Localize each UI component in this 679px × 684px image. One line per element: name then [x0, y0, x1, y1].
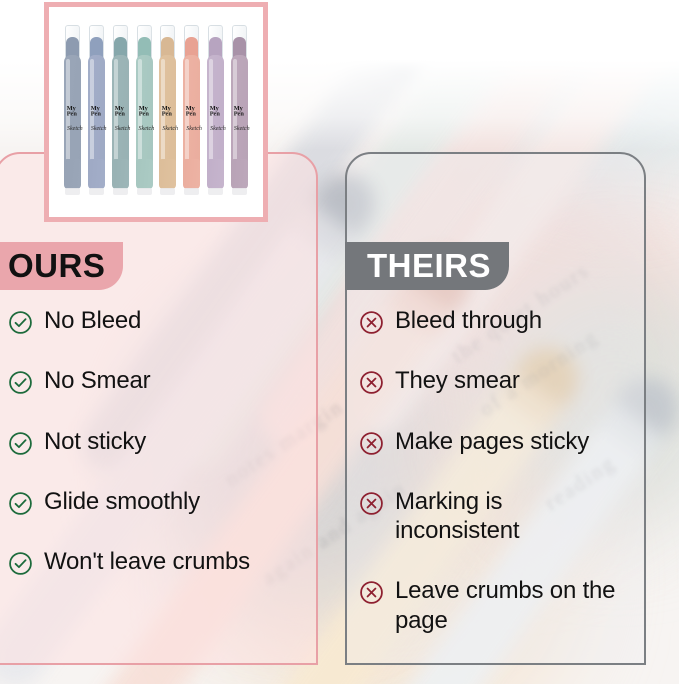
pen-base — [64, 159, 81, 189]
pen-brand-mark: My Pen — [91, 106, 104, 117]
pen-script-label: Sketch — [139, 126, 153, 132]
pen-brand-mark: My Pen — [210, 106, 223, 117]
list-item-label: No Bleed — [44, 306, 141, 335]
list-item-label: Leave crumbs on the page — [395, 576, 630, 635]
cross-circle-icon — [359, 370, 384, 395]
list-item-label: No Smear — [44, 366, 150, 395]
list-item: They smear — [359, 366, 630, 395]
list-item: Make pages sticky — [359, 427, 630, 456]
photo-pen-mauve: My PenSketch — [230, 27, 249, 197]
list-item: Won't leave crumbs — [8, 547, 302, 576]
theirs-drawback-list: Bleed throughThey smearMake pages sticky… — [347, 306, 644, 666]
cross-circle-icon — [359, 431, 384, 456]
pen-brand-mark: My Pen — [234, 106, 247, 117]
pen-foot — [232, 188, 247, 195]
pen-foot — [160, 188, 175, 195]
pen-base — [183, 159, 200, 189]
list-item: No Bleed — [8, 306, 302, 335]
pen-base — [136, 159, 153, 189]
photo-pen-teal-grey: My PenSketch — [111, 27, 130, 197]
pen-script-label: Sketch — [162, 126, 176, 132]
pen-brand-mark: My Pen — [186, 106, 199, 117]
check-circle-icon — [8, 370, 33, 395]
badge-theirs-label: THEIRS — [367, 247, 491, 285]
pen-script-label: Sketch — [67, 126, 81, 132]
cross-circle-icon — [359, 491, 384, 516]
badge-ours: OURS — [0, 242, 123, 290]
pen-script-label: Sketch — [115, 126, 129, 132]
list-item-label: Won't leave crumbs — [44, 547, 250, 576]
list-item-label: They smear — [395, 366, 520, 395]
photo-pen-mint: My PenSketch — [135, 27, 154, 197]
photo-pen-sand: My PenSketch — [158, 27, 177, 197]
pen-base — [207, 159, 224, 189]
pen-script-label: Sketch — [234, 126, 248, 132]
list-item-label: Marking is inconsistent — [395, 487, 630, 546]
pen-script-label: Sketch — [186, 126, 200, 132]
pen-brand-mark: My Pen — [114, 106, 127, 117]
list-item-label: Make pages sticky — [395, 427, 589, 456]
list-item-label: Not sticky — [44, 427, 146, 456]
pen-brand-mark: My Pen — [162, 106, 175, 117]
list-item: Bleed through — [359, 306, 630, 335]
pen-foot — [137, 188, 152, 195]
list-item: Marking is inconsistent — [359, 487, 630, 546]
check-circle-icon — [8, 310, 33, 335]
pen-lineup-photo: My PenSketchMy PenSketchMy PenSketchMy P… — [44, 2, 268, 222]
check-circle-icon — [8, 551, 33, 576]
pen-foot — [113, 188, 128, 195]
photo-inner: My PenSketchMy PenSketchMy PenSketchMy P… — [55, 13, 257, 211]
pen-base — [112, 159, 129, 189]
cross-circle-icon — [359, 310, 384, 335]
check-circle-icon — [8, 431, 33, 456]
badge-ours-label: OURS — [8, 247, 105, 285]
photo-pen-lilac: My PenSketch — [206, 27, 225, 197]
pen-foot — [89, 188, 104, 195]
pen-base — [231, 159, 248, 189]
photo-pen-salmon: My PenSketch — [182, 27, 201, 197]
list-item: Glide smoothly — [8, 487, 302, 516]
ours-benefit-list: No BleedNo SmearNot stickyGlide smoothly… — [0, 306, 316, 607]
panel-ours: OURS No BleedNo SmearNot stickyGlide smo… — [0, 152, 318, 665]
pen-foot — [65, 188, 80, 195]
pen-script-label: Sketch — [91, 126, 105, 132]
list-item-label: Glide smoothly — [44, 487, 200, 516]
pen-foot — [184, 188, 199, 195]
photo-pen-row: My PenSketchMy PenSketchMy PenSketchMy P… — [63, 27, 249, 197]
photo-pen-blue-grey: My PenSketch — [63, 27, 82, 197]
pen-brand-mark: My Pen — [138, 106, 151, 117]
photo-pen-periwinkle: My PenSketch — [87, 27, 106, 197]
list-item: Leave crumbs on the page — [359, 576, 630, 635]
pen-base — [159, 159, 176, 189]
pen-brand-mark: My Pen — [67, 106, 80, 117]
check-circle-icon — [8, 491, 33, 516]
cross-circle-icon — [359, 580, 384, 605]
badge-theirs: THEIRS — [345, 242, 509, 290]
panel-theirs: THEIRS Bleed throughThey smearMake pages… — [345, 152, 646, 665]
list-item: No Smear — [8, 366, 302, 395]
list-item: Not sticky — [8, 427, 302, 456]
pen-base — [88, 159, 105, 189]
list-item-label: Bleed through — [395, 306, 542, 335]
pen-foot — [208, 188, 223, 195]
pen-script-label: Sketch — [210, 126, 224, 132]
